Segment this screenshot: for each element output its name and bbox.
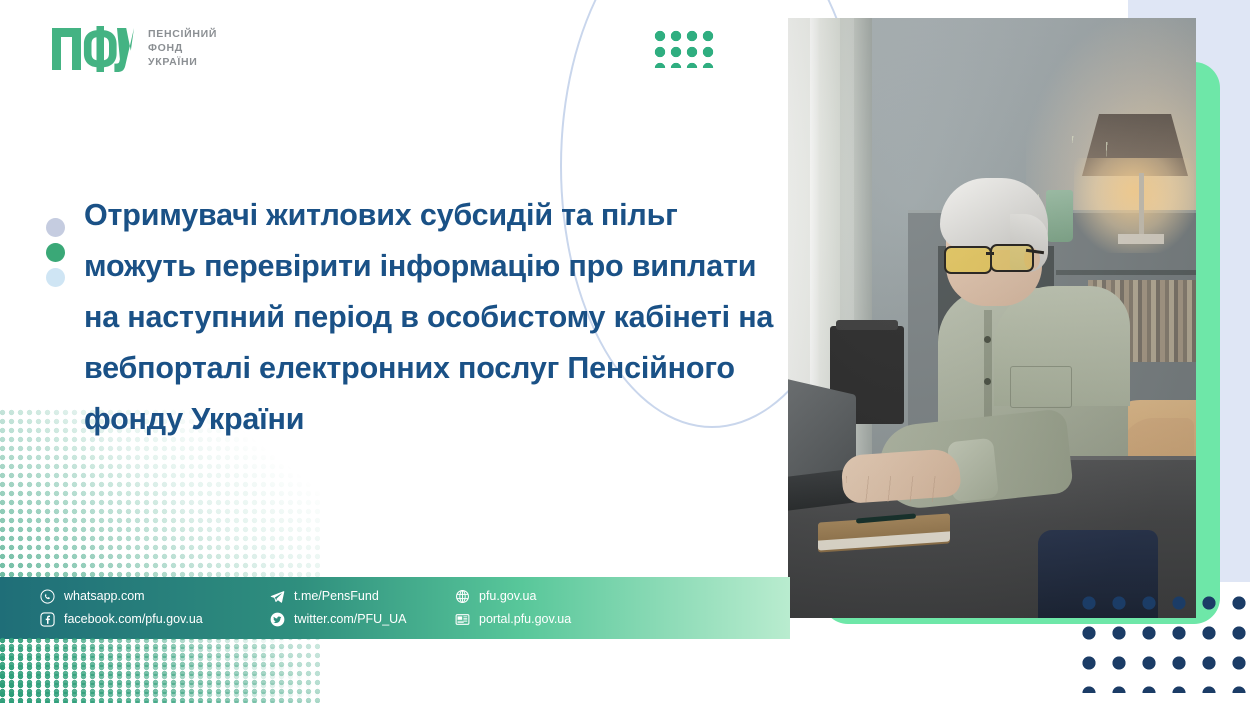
whatsapp-icon — [40, 589, 55, 604]
footer-link-label: portal.pfu.gov.ua — [479, 613, 571, 626]
web-portal-icon — [455, 612, 470, 627]
footer-link-whatsapp[interactable]: whatsapp.com — [40, 589, 270, 604]
bullet-dot-group — [46, 218, 65, 287]
poster-canvas: ПЕНСІЙНИЙ ФОНД УКРАЇНИ Отримувачі житлов… — [0, 0, 1250, 703]
footer-link-label: twitter.com/PFU_UA — [294, 613, 407, 626]
footer-link-website[interactable]: pfu.gov.ua — [455, 589, 645, 604]
dot-grid-bottom-right — [1074, 588, 1250, 693]
hero-photo — [788, 18, 1196, 618]
footer-link-label: facebook.com/pfu.gov.ua — [64, 613, 203, 626]
photo-vignette — [788, 18, 1196, 618]
bullet-dot-blue — [46, 268, 65, 287]
footer-link-label: t.me/PensFund — [294, 590, 379, 603]
bullet-dot-lavender — [46, 218, 65, 237]
headline-text: Отримувачі житлових субсидій та пільг мо… — [84, 190, 784, 445]
pfu-logo[interactable]: ПЕНСІЙНИЙ ФОНД УКРАЇНИ — [52, 26, 217, 72]
globe-icon — [455, 589, 470, 604]
footer-link-facebook[interactable]: facebook.com/pfu.gov.ua — [40, 612, 270, 627]
dot-grid-top — [652, 28, 716, 68]
pfu-logo-mark-icon — [52, 26, 134, 72]
footer-link-twitter[interactable]: twitter.com/PFU_UA — [270, 612, 455, 627]
footer-column-websites: pfu.gov.ua portal.pfu.gov.ua — [455, 589, 645, 627]
footer-column-messengers: t.me/PensFund twitter.com/PFU_UA — [270, 589, 455, 627]
footer-column-social: whatsapp.com facebook.com/pfu.gov.ua — [40, 589, 270, 627]
footer-link-label: whatsapp.com — [64, 590, 145, 603]
bullet-dot-green — [46, 243, 65, 262]
logo-line-1: ПЕНСІЙНИЙ — [148, 29, 217, 41]
twitter-icon — [270, 612, 285, 627]
contact-footer: whatsapp.com facebook.com/pfu.gov.ua t.m… — [0, 577, 790, 639]
pfu-logo-wordmark: ПЕНСІЙНИЙ ФОНД УКРАЇНИ — [148, 29, 217, 68]
halftone-pattern-below-footer — [0, 636, 320, 703]
footer-link-portal[interactable]: portal.pfu.gov.ua — [455, 612, 645, 627]
footer-link-telegram[interactable]: t.me/PensFund — [270, 589, 455, 604]
facebook-icon — [40, 612, 55, 627]
logo-line-2: ФОНД — [148, 43, 217, 55]
logo-line-3: УКРАЇНИ — [148, 57, 217, 69]
footer-link-label: pfu.gov.ua — [479, 590, 536, 603]
telegram-icon — [270, 589, 285, 604]
